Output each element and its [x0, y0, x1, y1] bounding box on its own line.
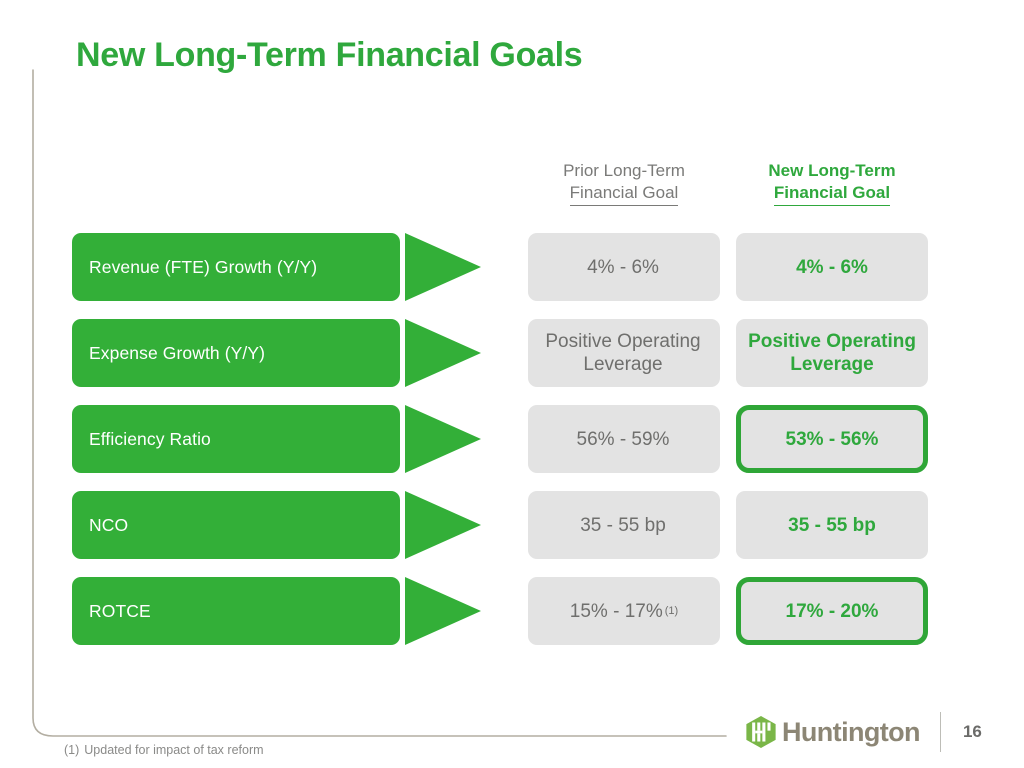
new-goal-value: 53% - 56%	[786, 428, 879, 451]
column-header-new-line2-wrap: Financial Goal	[736, 182, 928, 206]
column-header-prior: Prior Long-Term Financial Goal	[528, 160, 720, 206]
new-goal-cell: 35 - 55 bp	[736, 491, 928, 559]
metric-label: NCO	[72, 515, 128, 536]
metric-label: Expense Growth (Y/Y)	[72, 343, 265, 364]
column-header-prior-line1: Prior Long-Term	[528, 160, 720, 182]
goal-row: Expense Growth (Y/Y) Positive Operating …	[0, 319, 1024, 387]
huntington-hexagon-logo-icon	[744, 715, 778, 749]
arrow-right-icon	[405, 319, 481, 387]
prior-goal-cell: Positive Operating Leverage	[528, 319, 720, 387]
arrow-right-icon	[405, 405, 481, 473]
slide: New Long-Term Financial Goals Prior Long…	[0, 0, 1024, 768]
prior-goal-cell: 35 - 55 bp	[528, 491, 720, 559]
metric-label-bar: Revenue (FTE) Growth (Y/Y)	[72, 233, 400, 301]
goal-row: NCO 35 - 55 bp 35 - 55 bp	[0, 491, 1024, 559]
new-goal-cell-highlighted: 17% - 20%	[736, 577, 928, 645]
metric-label-bar: ROTCE	[72, 577, 400, 645]
footnote-text: Updated for impact of tax reform	[84, 743, 263, 757]
metric-label-bar: Expense Growth (Y/Y)	[72, 319, 400, 387]
metric-label-bar: Efficiency Ratio	[72, 405, 400, 473]
prior-goal-value: 15% - 17%	[570, 600, 663, 623]
huntington-wordmark: Huntington	[782, 719, 920, 746]
prior-goal-value: 4% - 6%	[587, 256, 659, 279]
column-header-new-line2: Financial Goal	[774, 182, 890, 206]
footer-divider	[940, 712, 941, 752]
prior-goal-footnote-marker: (1)	[665, 600, 678, 623]
prior-goal-cell: 4% - 6%	[528, 233, 720, 301]
footnote-marker: (1)	[64, 743, 79, 757]
goal-row: Revenue (FTE) Growth (Y/Y) 4% - 6% 4% - …	[0, 233, 1024, 301]
arrow-right-icon	[405, 491, 481, 559]
column-header-prior-line2: Financial Goal	[570, 182, 679, 206]
new-goal-value: 4% - 6%	[796, 256, 868, 279]
prior-goal-cell: 56% - 59%	[528, 405, 720, 473]
arrow-right-icon	[405, 577, 481, 645]
prior-goal-cell: 15% - 17%(1)	[528, 577, 720, 645]
arrow-right-icon	[405, 233, 481, 301]
column-header-new-line1: New Long-Term	[736, 160, 928, 182]
footnote: (1)Updated for impact of tax reform	[64, 743, 264, 757]
column-header-prior-line2-wrap: Financial Goal	[528, 182, 720, 206]
metric-label: Revenue (FTE) Growth (Y/Y)	[72, 257, 317, 278]
new-goal-cell: 4% - 6%	[736, 233, 928, 301]
prior-goal-value: 35 - 55 bp	[580, 514, 666, 537]
new-goal-cell-highlighted: 53% - 56%	[736, 405, 928, 473]
goal-row: ROTCE 15% - 17%(1) 17% - 20%	[0, 577, 1024, 645]
metric-label: Efficiency Ratio	[72, 429, 211, 450]
new-goal-value: 35 - 55 bp	[788, 514, 876, 537]
column-header-new: New Long-Term Financial Goal	[736, 160, 928, 206]
prior-goal-value: Positive Operating Leverage	[538, 330, 708, 376]
goal-row: Efficiency Ratio 56% - 59% 53% - 56%	[0, 405, 1024, 473]
metric-label: ROTCE	[72, 601, 151, 622]
new-goal-value: Positive Operating Leverage	[746, 330, 918, 376]
new-goal-cell: Positive Operating Leverage	[736, 319, 928, 387]
prior-goal-value: 56% - 59%	[577, 428, 670, 451]
metric-label-bar: NCO	[72, 491, 400, 559]
page-title: New Long-Term Financial Goals	[76, 36, 582, 75]
page-number: 16	[963, 722, 982, 742]
new-goal-value: 17% - 20%	[786, 600, 879, 623]
brand-footer: Huntington 16	[744, 711, 982, 753]
